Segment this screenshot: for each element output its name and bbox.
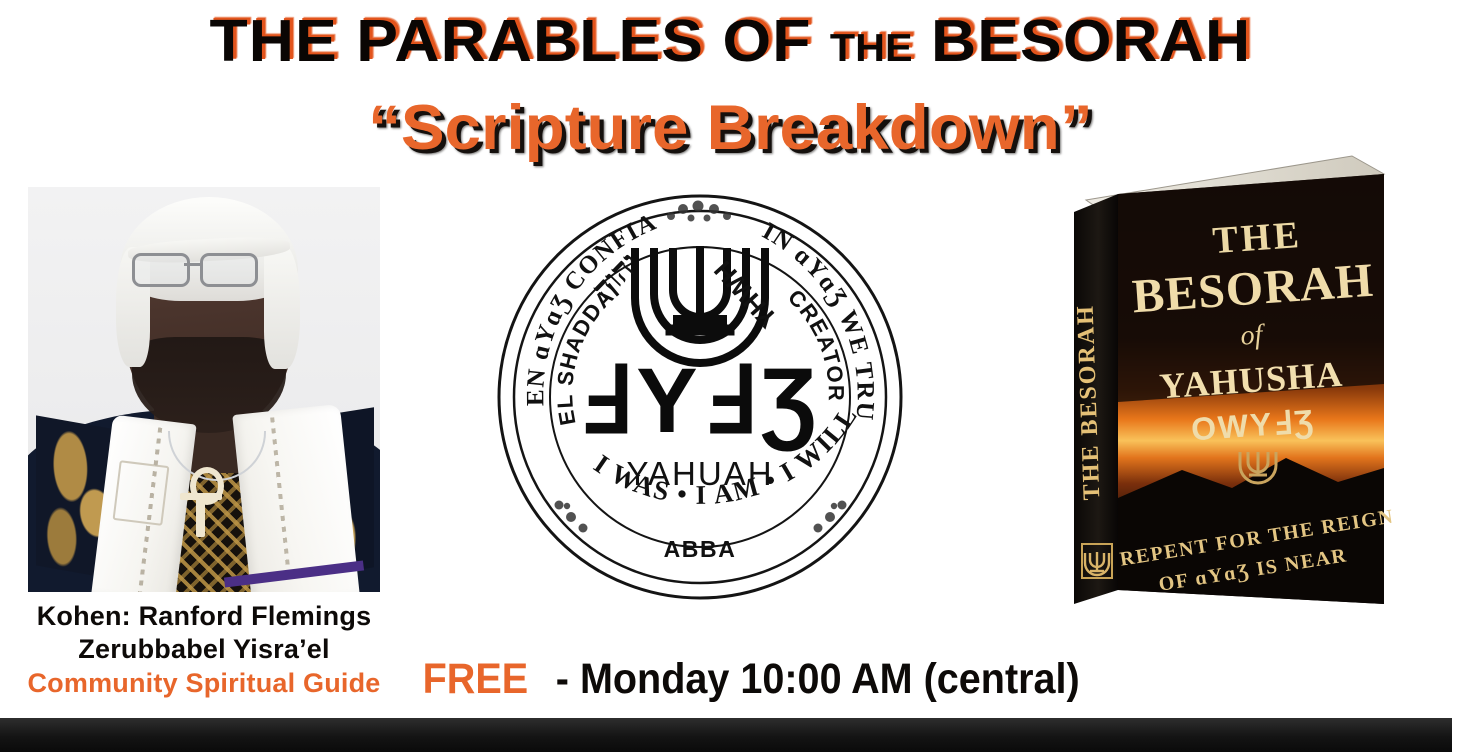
- glasses-bridge: [184, 263, 202, 266]
- seal-paleo-name: ℲYℲƷ: [578, 350, 821, 452]
- bottom-bar: [0, 718, 1452, 752]
- speaker-photo: [28, 187, 380, 592]
- seal-center-name: YAHUAH: [626, 455, 773, 492]
- speaker-caption: Kohen: Ranford Flemings Zerubbabel Yisra…: [0, 600, 408, 700]
- glasses-right-lens: [200, 253, 258, 287]
- subtitle-text: “Scripture Breakdown”: [368, 92, 1093, 164]
- speaker-role: Community Spiritual Guide: [0, 666, 408, 700]
- flyer-canvas: THE PARABLES OF THE BESORAH “Scripture B…: [0, 0, 1460, 752]
- mouth-shape: [184, 353, 218, 362]
- yahuah-seal: EN ɑYɑƷ CONFIAMOS IN ɑYɑƷ WE TRUST I WAS…: [493, 190, 908, 605]
- schedule-line: FREE - Monday 10:00 AM (central): [418, 655, 1102, 703]
- title-text: THE PARABLES OF THE BESORAH: [209, 8, 1251, 82]
- title-end: BESORAH: [931, 8, 1251, 74]
- seal-inner-bottom: ABBA: [664, 536, 737, 562]
- glasses-left-lens: [132, 253, 190, 287]
- book-title-line1: THE: [1211, 214, 1303, 262]
- book-cover-image: THE BESORAH THE BESORAH of YAHUSHA OWYℲƷ: [1062, 152, 1392, 642]
- tallit-embroidery: [113, 460, 170, 526]
- speaker-title: Zerubbabel Yisra’el: [0, 633, 408, 666]
- ankh-stem: [196, 493, 205, 537]
- schedule-details: - Monday 10:00 AM (central): [555, 655, 1079, 703]
- title-main: THE PARABLES OF: [209, 8, 811, 74]
- head-covering-right: [264, 245, 300, 369]
- page-title: THE PARABLES OF THE BESORAH: [0, 8, 1460, 82]
- free-label: FREE: [423, 655, 529, 703]
- title-small-the: THE: [830, 27, 913, 70]
- speaker-name: Kohen: Ranford Flemings: [0, 600, 408, 633]
